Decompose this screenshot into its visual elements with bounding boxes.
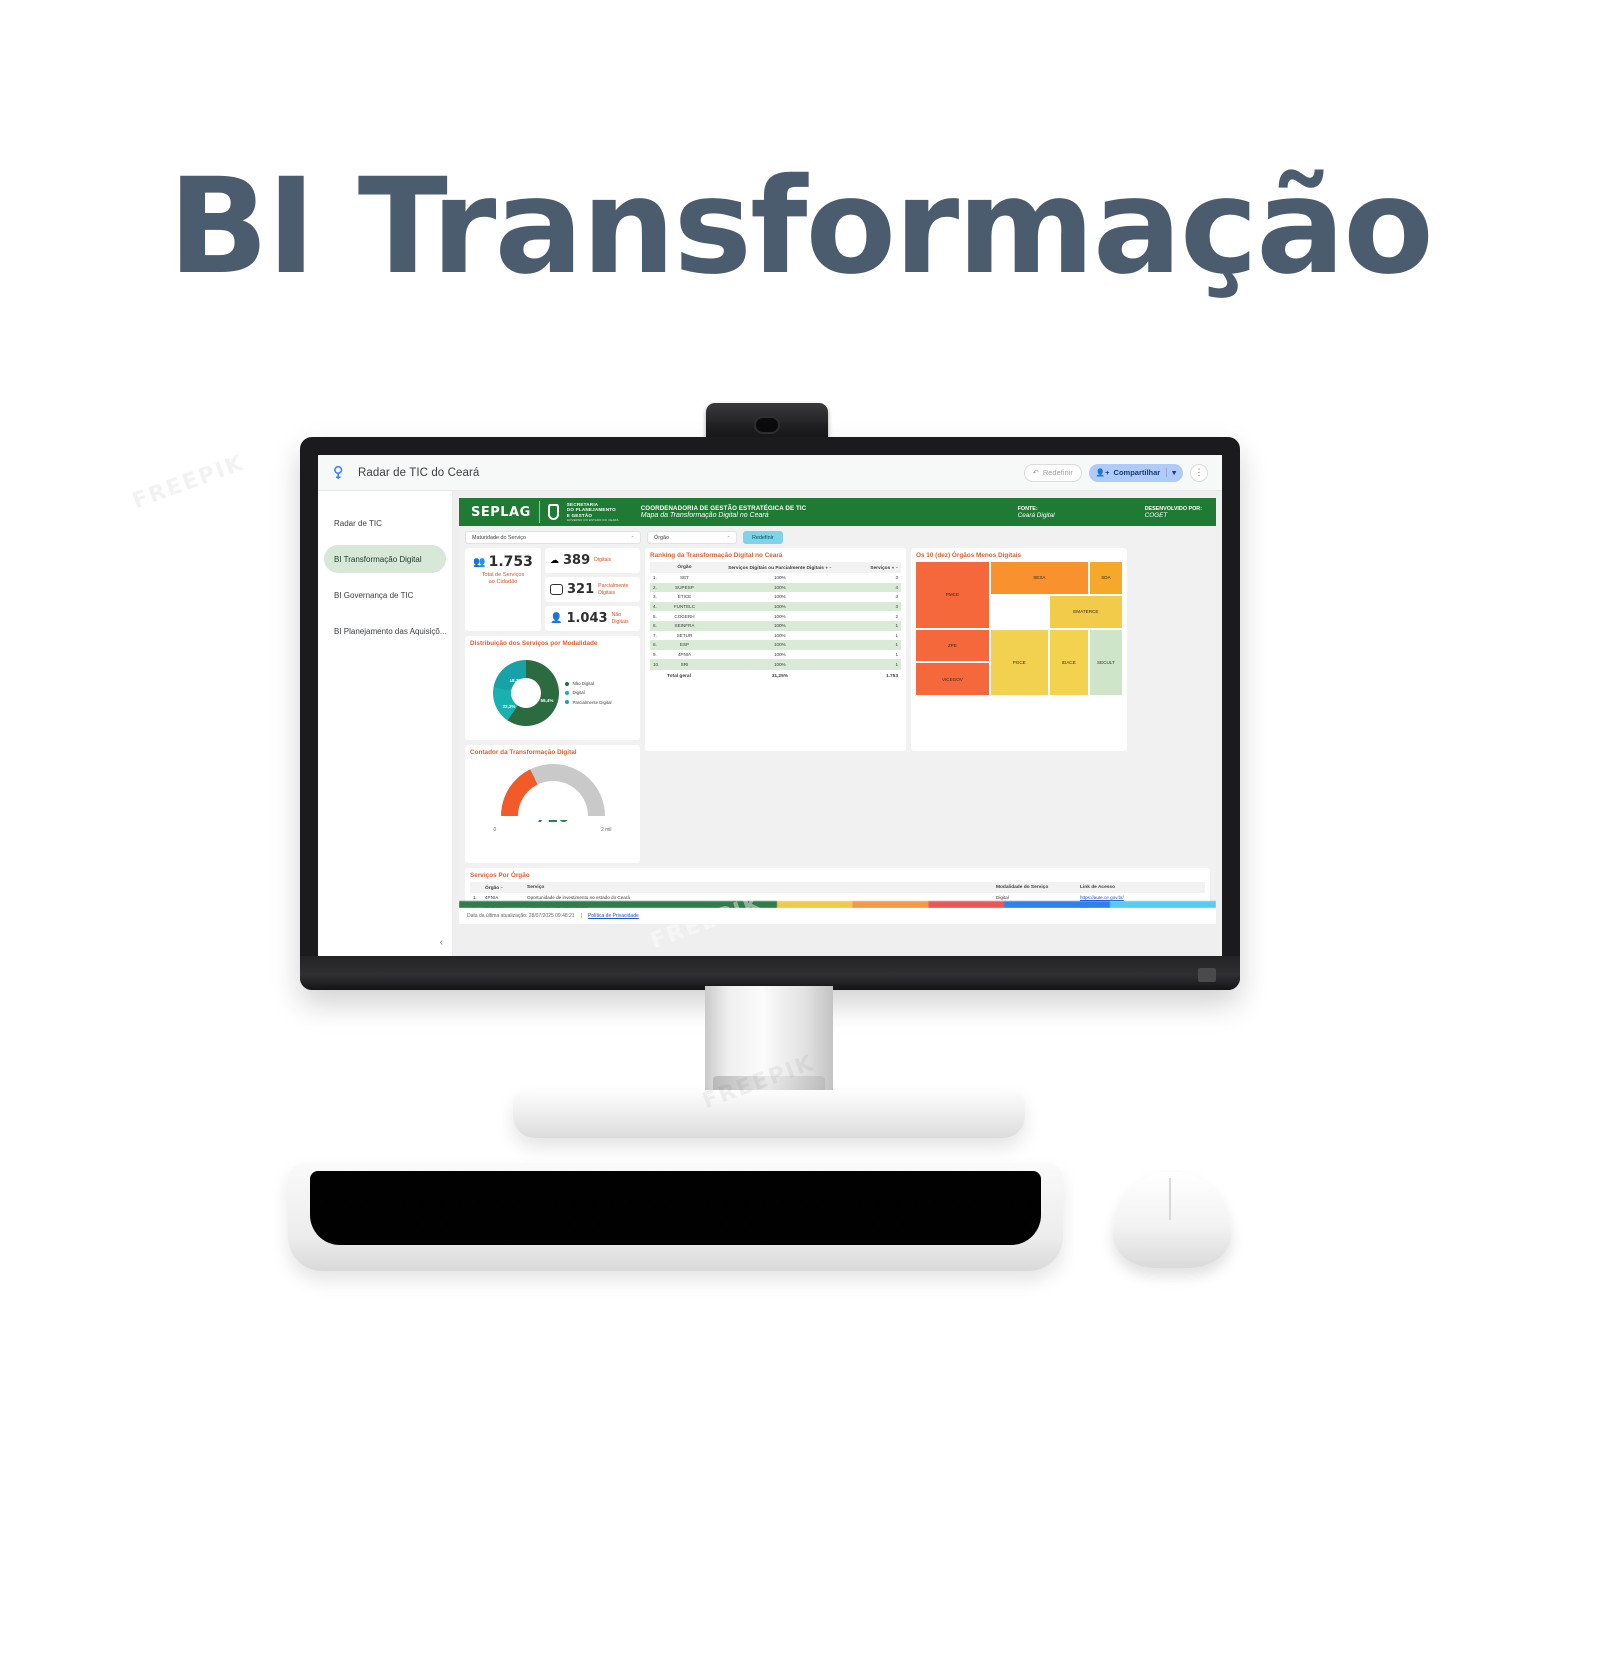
caret-down-icon: ⁃ <box>727 534 730 541</box>
secretaria-block: SECRETARIA DO PLANEJAMENTO E GESTÃO GOVE… <box>567 502 619 523</box>
pct-cell: 100% <box>705 592 855 602</box>
kpi-total-label1: Total de Serviços <box>469 572 537 579</box>
col-modalidade[interactable]: Modalidade do Serviço <box>993 882 1077 893</box>
donut-ring: 22,3% 18,3% 59,4% <box>493 660 559 726</box>
monitor-power-indicator <box>1198 968 1216 982</box>
gauge-card: Contador da Transformação Digital Serviç… <box>465 745 640 863</box>
privacy-policy-link[interactable]: Política de Privacidade <box>588 913 639 919</box>
ceara-coat-of-arms-icon <box>539 501 559 523</box>
rank-cell: 6. <box>650 621 664 631</box>
treemap-card: Os 10 (dez) Órgãos Menos Digitais PMCE S… <box>911 548 1127 751</box>
fonte-block: FONTE: Ceará Digital <box>1018 506 1055 519</box>
pct-cell: 100% <box>705 602 855 612</box>
rank-cell: 7. <box>650 631 664 641</box>
kpi-parciais-label: Parcialmente Digitais <box>598 583 628 595</box>
table-row[interactable]: 1.SET100%3 <box>650 573 901 583</box>
treemap-tile[interactable]: IDACE <box>1050 630 1088 696</box>
ranking-card-title: Ranking da Transformação Digital no Cear… <box>650 552 901 559</box>
pct-cell: 100% <box>705 621 855 631</box>
total-pct: 31,25% <box>705 669 855 681</box>
report-title-line1: COORDENADORIA DE GESTÃO ESTRATÉGICA DE T… <box>641 505 807 512</box>
gauge-min-label: 0 <box>494 827 497 833</box>
table-footer-row: Total geral 31,25% 1.753 <box>650 669 901 681</box>
filter-maturidade-label: Maturidade do Serviço <box>472 535 526 541</box>
mouse <box>1113 1172 1231 1268</box>
desenvolvido-block: DESENVOLVIDO POR: COGET <box>1145 506 1202 519</box>
keyboard-keys <box>310 1171 1041 1245</box>
secretaria-line4: GOVERNO DO ESTADO DO CEARÁ <box>567 519 619 522</box>
more-vertical-icon[interactable]: ⋮ <box>1190 464 1208 482</box>
kpi-nao-digitais-label: Não Digitais <box>612 612 629 624</box>
report-canvas: SEPLAG SECRETARIA DO PLANEJAMENTO E GEST… <box>453 491 1222 956</box>
monitor-icon <box>550 584 563 595</box>
reset-button[interactable]: ↶ Redefinir <box>1024 464 1082 482</box>
legend-item: Digital <box>565 690 611 695</box>
rank-cell: 10. <box>650 659 664 669</box>
rank-cell: 4. <box>650 602 664 612</box>
filter-reset-label: Redefinir <box>752 535 774 541</box>
right-column: Os 10 (dez) Órgãos Menos Digitais PMCE S… <box>911 548 1127 863</box>
gauge-arc <box>501 764 605 820</box>
middle-column: Ranking da Transformação Digital no Cear… <box>645 548 906 863</box>
kpi-small-group: ☁ 389 Digitais 321 Par <box>545 548 640 631</box>
sidebar-item-bi-governanca-de-tic[interactable]: BI Governança de TIC <box>324 581 446 609</box>
pct-cell: 100% <box>705 573 855 583</box>
filter-reset-button[interactable]: Redefinir <box>743 531 783 544</box>
kpi-digitais-value: 389 <box>563 553 590 568</box>
filter-orgao-label: Órgão <box>654 535 669 541</box>
sidebar: Radar de TIC BI Transformação Digital BI… <box>318 491 453 956</box>
report: SEPLAG SECRETARIA DO PLANEJAMENTO E GEST… <box>459 498 1216 924</box>
rank-cell: 1. <box>650 573 664 583</box>
person-add-icon: 👤+ <box>1096 468 1110 477</box>
orgao-cell: SETUR <box>664 631 705 641</box>
gauge-chart[interactable]: Serviços Transformados 710 0 2 mil <box>470 759 635 859</box>
servicos-card-title: Serviços Por Órgão <box>470 872 1205 879</box>
gauge-card-title: Contador da Transformação Digital <box>470 749 635 756</box>
servicos-cell: 3 <box>855 602 901 612</box>
filter-orgao-select[interactable]: Órgão ⁃ <box>647 531 737 544</box>
fonte-value: Ceará Digital <box>1018 512 1055 519</box>
report-footer: Data da última atualização: 28/07/2025 0… <box>459 908 1216 924</box>
app-topbar: Radar de TIC do Ceará ↶ Redefinir 👤+ Com… <box>318 455 1222 491</box>
topbar-actions: ↶ Redefinir 👤+ Compartilhar ▾ ⋮ <box>1024 464 1212 482</box>
treemap-tile[interactable]: ZPE <box>916 630 989 662</box>
kpi-nao-digitais-value: 1.043 <box>566 611 607 626</box>
table-row[interactable]: 5.COGERH100%2 <box>650 611 901 621</box>
treemap-tile[interactable]: SDA <box>1090 562 1122 594</box>
report-header-title: COORDENADORIA DE GESTÃO ESTRATÉGICA DE T… <box>641 505 807 519</box>
treemap-card-title: Os 10 (dez) Órgãos Menos Digitais <box>916 552 1122 559</box>
watermark: FREEPIK <box>129 451 248 515</box>
sidebar-item-bi-transformacao-digital[interactable]: BI Transformação Digital <box>324 545 446 573</box>
chevron-left-icon[interactable]: ‹ <box>318 937 453 948</box>
webcam-lens-icon <box>754 416 780 434</box>
pct-cell: 100% <box>705 650 855 660</box>
chevron-down-icon[interactable]: ▾ <box>1166 468 1176 477</box>
rank-cell: 5. <box>650 611 664 621</box>
col-orgao[interactable]: Órgão ⁃ <box>482 882 524 893</box>
orgao-cell: FUNTELC <box>664 602 705 612</box>
pct-cell: 100% <box>705 631 855 641</box>
servicos-cell: 1 <box>855 631 901 641</box>
servicos-cell: 1 <box>855 621 901 631</box>
monitor-base <box>513 1090 1025 1138</box>
kpi-total-servicos: 👥 1.753 Total de Serviços ao Cidadão <box>465 548 541 631</box>
treemap-tile[interactable]: EMATERCE <box>1050 596 1122 628</box>
report-title-line2: Mapa da Transformação Digital no Ceará <box>641 512 807 519</box>
kpi-digitais: ☁ 389 Digitais <box>545 548 640 573</box>
orgao-cell: SUPESP <box>664 583 705 593</box>
table-row[interactable]: 4.FUNTELC100%3 <box>650 602 901 612</box>
gauge-max-label: 2 mil <box>601 827 612 833</box>
monitor: Radar de TIC do Ceará ↶ Redefinir 👤+ Com… <box>300 437 1240 990</box>
orgao-cell: 4PNIA <box>664 650 705 660</box>
total-servicos: 1.753 <box>855 669 901 681</box>
filter-bar: Maturidade do Serviço ⁃ Órgão ⁃ Redefini… <box>459 526 1216 548</box>
gauge-scale: 0 2 mil <box>494 827 612 833</box>
servicos-cell: 1 <box>855 659 901 669</box>
table-row[interactable]: 2.SUPESP100%4 <box>650 583 901 593</box>
sidebar-item-radar-de-tic[interactable]: Radar de TIC <box>324 509 446 537</box>
sidebar-item-label: BI Planejamento das Aquisiçõ... <box>334 627 446 636</box>
servicos-cell: 2 <box>855 611 901 621</box>
total-label: Total geral <box>664 669 705 681</box>
table-row[interactable]: 8.ESP100%1 <box>650 640 901 650</box>
donut-slice-label-2: 18,3% <box>509 678 522 683</box>
undo-icon: ↶ <box>1033 468 1039 477</box>
report-header: SEPLAG SECRETARIA DO PLANEJAMENTO E GEST… <box>459 498 1216 526</box>
reset-button-label: Redefinir <box>1043 468 1073 477</box>
col-link[interactable]: Link de Acesso <box>1077 882 1205 893</box>
kpi-parcialmente-digitais: 321 Parcialmente Digitais <box>545 577 640 602</box>
report-grid: 👥 1.753 Total de Serviços ao Cidadão <box>459 548 1216 863</box>
servicos-cell: 3 <box>855 592 901 602</box>
rank-cell: 9. <box>650 650 664 660</box>
left-column: 👥 1.753 Total de Serviços ao Cidadão <box>465 548 640 863</box>
monitor-neck <box>705 986 833 1094</box>
sidebar-item-label: Radar de TIC <box>334 519 382 528</box>
pct-cell: 100% <box>705 640 855 650</box>
col-orgao[interactable]: Órgão <box>664 562 705 573</box>
servicos-cell: 1 <box>855 650 901 660</box>
keyboard <box>288 1163 1063 1271</box>
orgao-cell: ETICE <box>664 592 705 602</box>
share-button-label: Compartilhar <box>1114 468 1161 477</box>
rank-cell: 2. <box>650 583 664 593</box>
table-row[interactable]: 3.ETICE100%3 <box>650 592 901 602</box>
app-title: Radar de TIC do Ceará <box>358 467 479 479</box>
donut-slice-label-1: 59,4% <box>540 698 553 703</box>
orgao-cell: SET <box>664 573 705 583</box>
servicos-cell: 1 <box>855 640 901 650</box>
seplag-brand: SEPLAG <box>459 505 531 520</box>
share-button[interactable]: 👤+ Compartilhar ▾ <box>1089 464 1183 482</box>
orgao-cell: COGERH <box>664 611 705 621</box>
orgao-cell: SEINFRA <box>664 621 705 631</box>
kpi-group: 👥 1.753 Total de Serviços ao Cidadão <box>465 548 640 631</box>
caret-down-icon: ⁃ <box>631 534 634 541</box>
servicos-cell: 4 <box>855 583 901 593</box>
table-row[interactable]: 9.4PNIA100%1 <box>650 650 901 660</box>
donut-legend: Não Digital Digital Parcialmente Digital <box>565 681 611 704</box>
kpi-digitais-label: Digitais <box>594 557 611 563</box>
footer-separator: | <box>581 913 582 919</box>
dev-value: COGET <box>1145 512 1202 519</box>
pct-cell: 100% <box>705 659 855 669</box>
dev-caption: DESENVOLVIDO POR: <box>1145 506 1202 512</box>
pct-cell: 100% <box>705 583 855 593</box>
rank-cell: 3. <box>650 592 664 602</box>
legend-item: Parcialmente Digital <box>565 700 611 705</box>
sidebar-item-bi-planejamento-aquisicoes[interactable]: BI Planejamento das Aquisiçõ... <box>324 617 446 645</box>
ranking-card: Ranking da Transformação Digital no Cear… <box>645 548 906 751</box>
orgao-cell: ESP <box>664 640 705 650</box>
last-update-text: Data da última atualização: 28/07/2025 0… <box>467 913 575 919</box>
col-servicos[interactable]: Serviços ● ⁃ <box>855 562 901 573</box>
treemap-tile[interactable]: PMCE <box>916 562 989 628</box>
rank-cell: 8. <box>650 640 664 650</box>
orgao-cell: SRI <box>664 659 705 669</box>
screenshot-root: BI Transformação Radar de TIC do Ceará <box>0 0 1600 1656</box>
donut-card: Distribuição dos Serviços por Modalidade… <box>465 636 640 740</box>
kpi-total-value: 1.753 <box>489 554 533 570</box>
filter-maturidade-select[interactable]: Maturidade do Serviço ⁃ <box>465 531 641 544</box>
col-pct[interactable]: Serviços Digitais ou Parcialmente Digita… <box>705 562 855 573</box>
cloud-service-icon: ☁ <box>550 555 559 566</box>
treemap-chart[interactable]: PMCE SESA SDA ZPE EMATERCE PGCE VICEGOV <box>916 562 1122 695</box>
sidebar-item-label: BI Governança de TIC <box>334 591 413 600</box>
kpi-nao-digitais: 👤 1.043 Não Digitais <box>545 606 640 631</box>
looker-studio-icon[interactable] <box>332 465 348 481</box>
donut-chart[interactable]: 22,3% 18,3% 59,4% Não Digital Digital Pa… <box>470 650 635 736</box>
table-row[interactable]: 10.SRI100%1 <box>650 659 901 669</box>
treemap-tile[interactable]: SESA <box>991 562 1088 594</box>
servicos-cell: 3 <box>855 573 901 583</box>
people-group-icon: 👥 <box>473 557 485 568</box>
kpi-parciais-value: 321 <box>567 582 594 597</box>
treemap-tile[interactable]: VICEGOV <box>916 663 989 695</box>
treemap-tile[interactable]: PGCE <box>991 630 1048 696</box>
table-header-row: Órgão ⁃ Serviço Modalidade do Serviço Li… <box>470 882 1205 893</box>
table-header-row: Órgão Serviços Digitais ou Parcialmente … <box>650 562 901 573</box>
table-row[interactable]: 6.SEINFRA100%1 <box>650 621 901 631</box>
table-row[interactable]: 7.SETUR100%1 <box>650 631 901 641</box>
donut-slice-label-3: 22,3% <box>502 704 515 709</box>
treemap-tile[interactable]: SECULT <box>1090 630 1122 696</box>
app-body: Radar de TIC BI Transformação Digital BI… <box>318 491 1222 956</box>
sidebar-item-label: BI Transformação Digital <box>334 555 422 564</box>
pct-cell: 100% <box>705 611 855 621</box>
legend-item: Não Digital <box>565 681 611 686</box>
ranking-table[interactable]: Órgão Serviços Digitais ou Parcialmente … <box>650 562 901 681</box>
col-servico[interactable]: Serviço <box>524 882 993 893</box>
person-icon: 👤 <box>550 613 562 624</box>
page-title: BI Transformação <box>0 150 1600 304</box>
screen: Radar de TIC do Ceará ↶ Redefinir 👤+ Com… <box>318 455 1222 956</box>
decorative-rainbow-bar <box>459 901 1216 908</box>
donut-card-title: Distribuição dos Serviços por Modalidade <box>470 640 635 647</box>
kpi-total-label2: ao Cidadão <box>469 579 537 586</box>
